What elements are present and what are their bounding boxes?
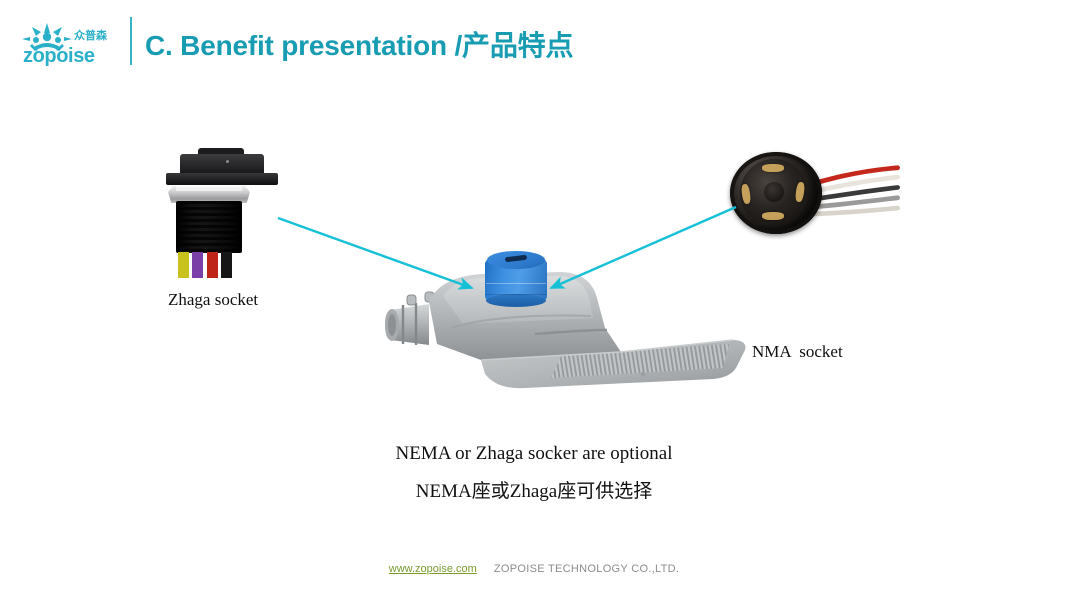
zopoise-logo: 众普森 zopoise — [22, 17, 122, 67]
slide-header: 众普森 zopoise C. Benefit presentation /产品特… — [0, 0, 1068, 88]
slide-footer: www.zopoise.com ZOPOISE TECHNOLOGY CO.,L… — [0, 563, 1068, 575]
caption-line-en: NEMA or Zhaga socker are optional — [0, 443, 1068, 465]
logo-graphic: 众普森 zopoise — [22, 17, 122, 67]
footer-company-name: ZOPOISE TECHNOLOGY CO.,LTD. — [494, 563, 679, 575]
logo-brand-cn: 众普森 — [74, 28, 108, 42]
arrow-nma-to-lamp — [551, 207, 736, 288]
logo-brand-en: zopoise — [23, 45, 95, 67]
illustration-stage: Zhaga socket NMA socket — [0, 88, 1068, 548]
caption-line-cn: NEMA座或Zhaga座可供选择 — [0, 476, 1068, 503]
caption-block: NEMA or Zhaga socker are optional NEMA座或… — [0, 443, 1068, 503]
page-title: C. Benefit presentation /产品特点 — [145, 24, 573, 64]
footer-website-link[interactable]: www.zopoise.com — [389, 563, 477, 575]
header-divider — [130, 17, 132, 65]
arrow-zhaga-to-lamp — [278, 218, 472, 288]
slide-canvas: 众普森 zopoise C. Benefit presentation /产品特… — [0, 0, 1068, 596]
